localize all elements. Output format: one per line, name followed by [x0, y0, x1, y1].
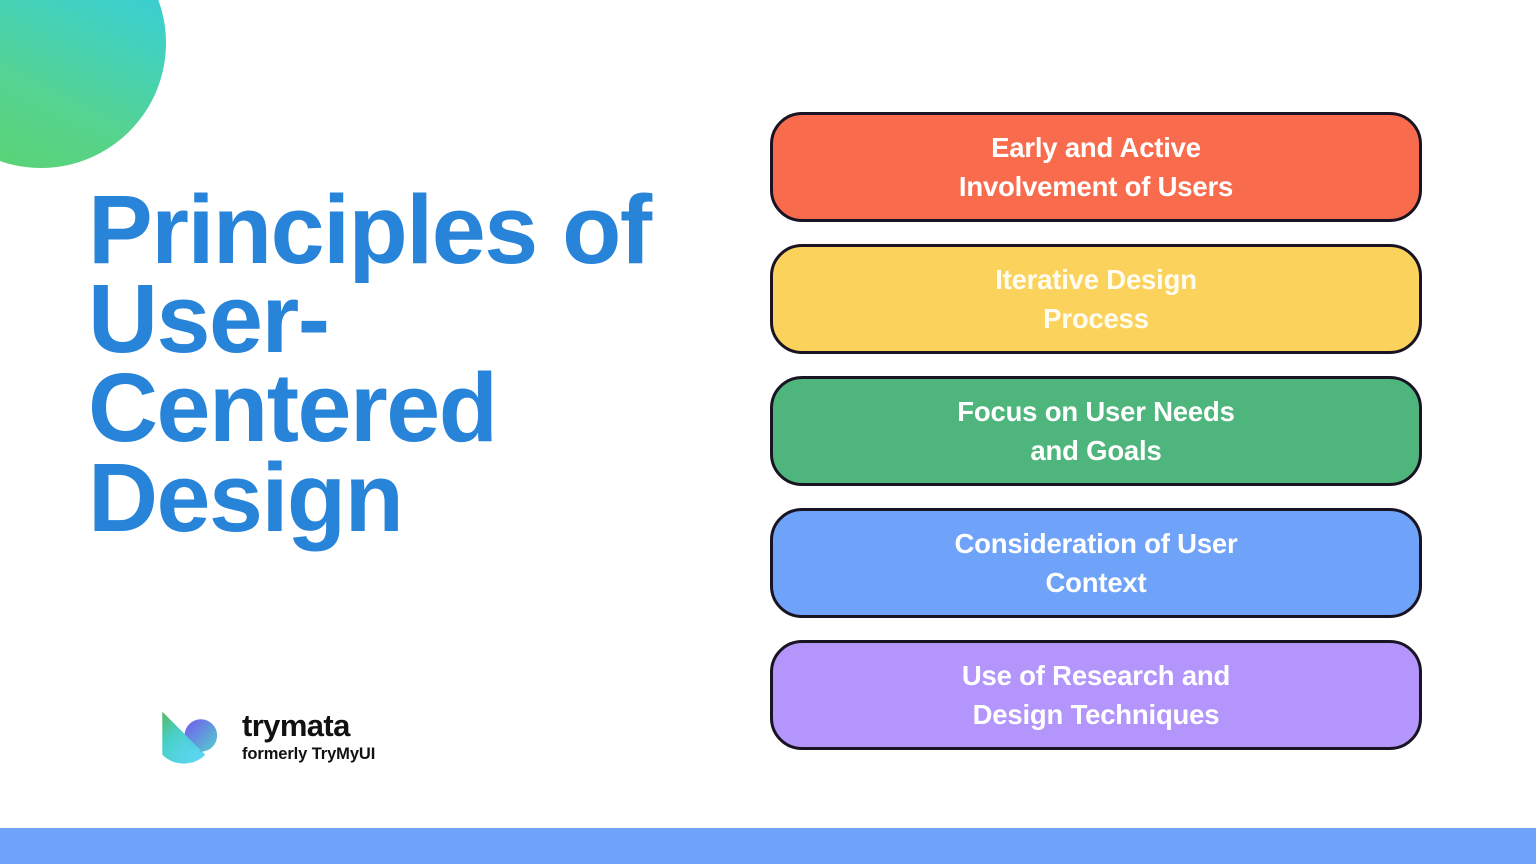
principle-item-2: Iterative Design Process: [770, 244, 1422, 354]
gradient-circle-decoration: [0, 0, 166, 168]
principle-label-1: Early and Active Involvement of Users: [959, 128, 1233, 206]
brand-logo-text: trymata formerly TryMyUI: [242, 710, 375, 765]
principle-item-4: Consideration of User Context: [770, 508, 1422, 618]
principle-item-1: Early and Active Involvement of Users: [770, 112, 1422, 222]
brand-logo: trymata formerly TryMyUI: [152, 700, 375, 774]
principle-label-4: Consideration of User Context: [954, 524, 1237, 602]
bottom-accent-bar: [0, 828, 1536, 864]
principle-item-5: Use of Research and Design Techniques: [770, 640, 1422, 750]
principle-item-3: Focus on User Needs and Goals: [770, 376, 1422, 486]
principle-label-2: Iterative Design Process: [995, 260, 1197, 338]
title-block: Principles of User-Centered Design: [88, 185, 688, 542]
brand-wordmark: trymata: [242, 710, 375, 743]
principle-label-5: Use of Research and Design Techniques: [962, 656, 1230, 734]
page-title: Principles of User-Centered Design: [88, 185, 688, 542]
principle-label-3: Focus on User Needs and Goals: [957, 392, 1234, 470]
principles-list: Early and Active Involvement of Users It…: [770, 112, 1422, 750]
brand-tagline: formerly TryMyUI: [242, 745, 375, 764]
trymata-leaf-logo: [152, 700, 226, 774]
slide-canvas: Principles of User-Centered Design: [0, 0, 1536, 864]
